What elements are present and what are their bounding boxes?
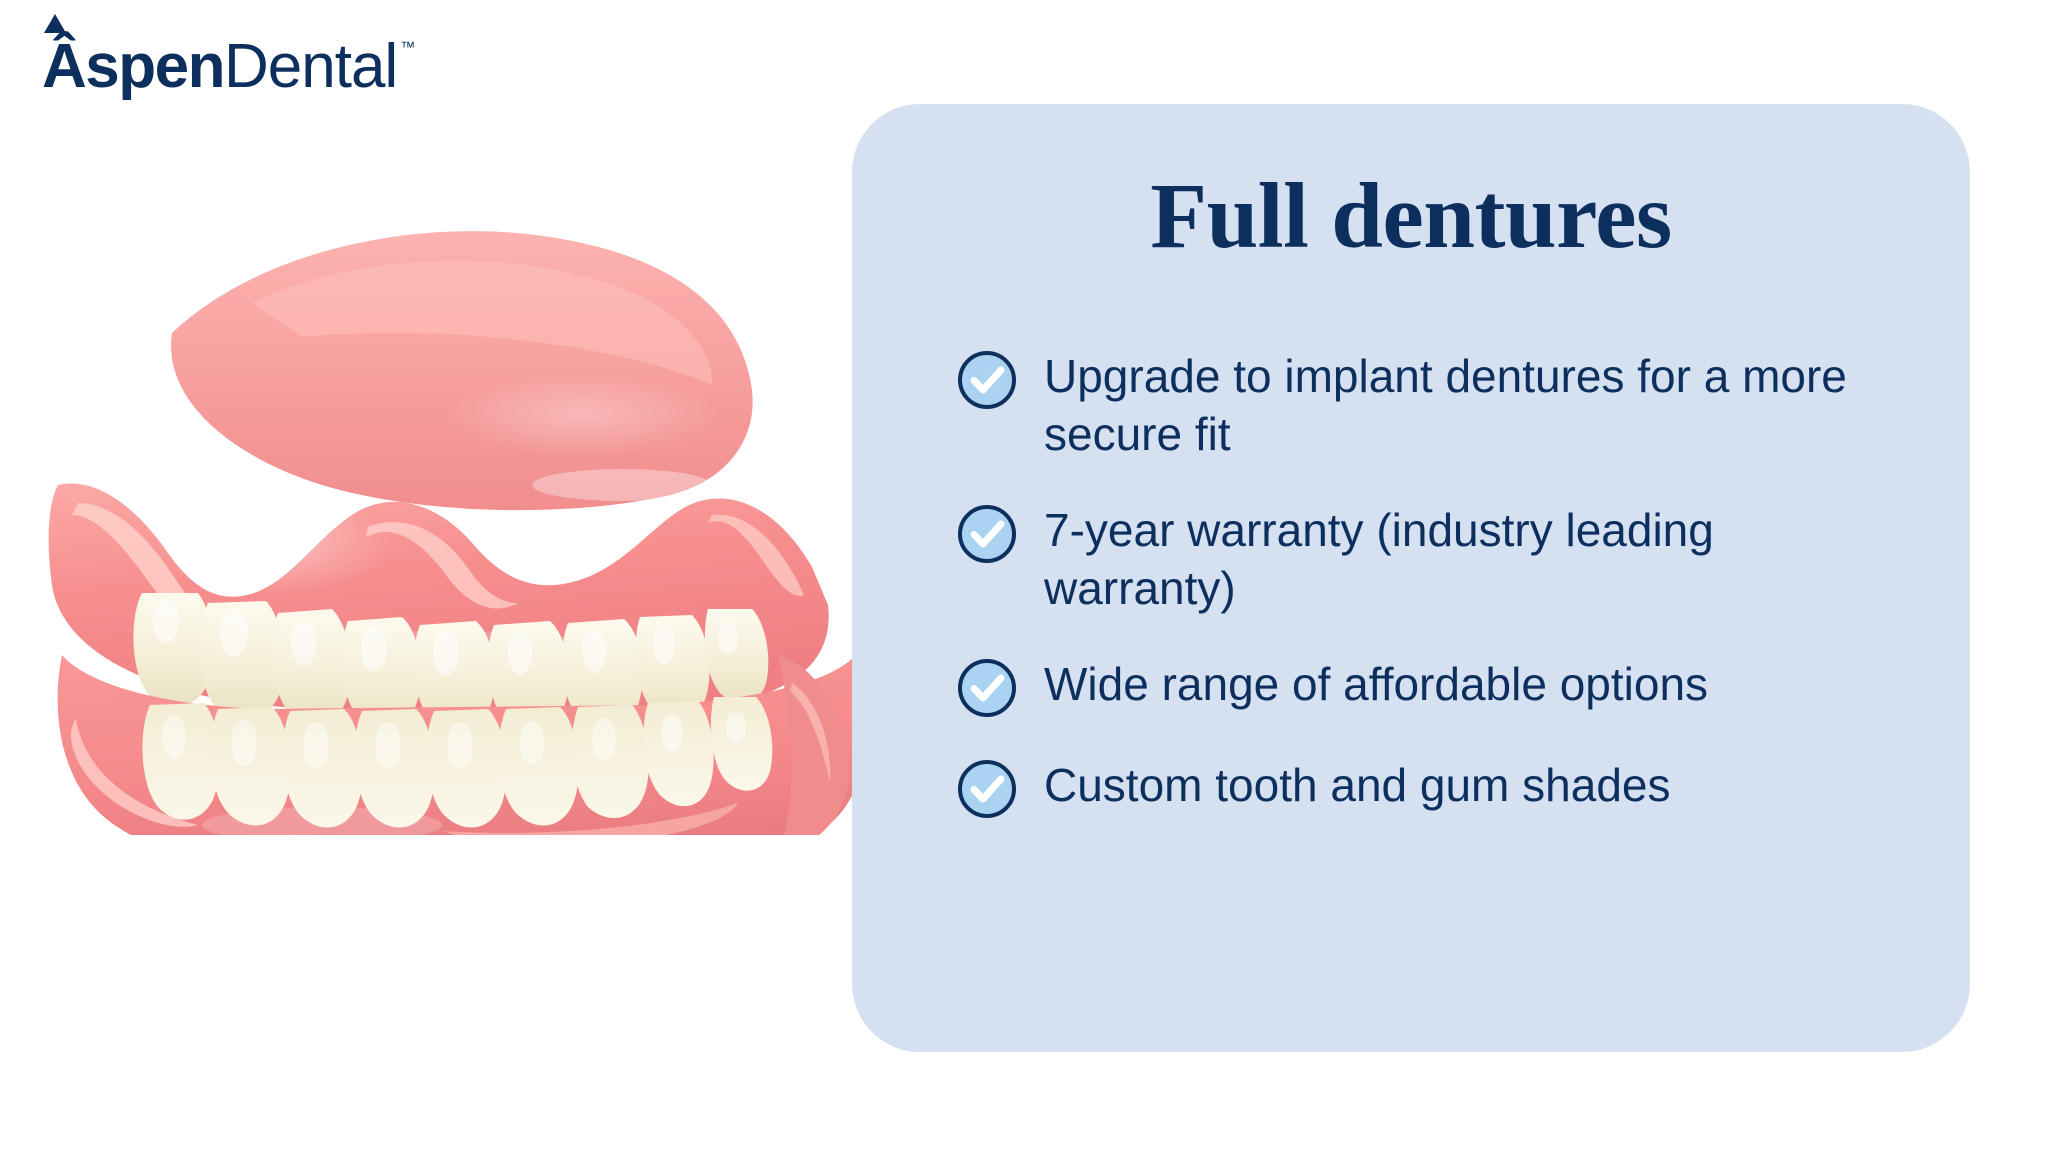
aspen-dental-logo: Âspen Dental ™ xyxy=(42,36,414,98)
logo-wordmark: Âspen Dental ™ xyxy=(42,36,414,98)
list-item: Wide range of affordable options xyxy=(956,656,1912,719)
trademark-symbol: ™ xyxy=(400,40,414,55)
check-circle-icon xyxy=(956,349,1018,411)
check-circle-icon xyxy=(956,758,1018,820)
full-denture-photo xyxy=(22,185,962,835)
logo-text-dental: Dental xyxy=(224,36,397,98)
list-item: Upgrade to implant dentures for a more s… xyxy=(956,348,1912,464)
list-item-label: Upgrade to implant dentures for a more s… xyxy=(1044,348,1874,464)
logo-caret-icon xyxy=(44,14,66,33)
logo-aspen-label: Âspen xyxy=(42,32,224,101)
list-item-label: Custom tooth and gum shades xyxy=(1044,757,1670,815)
promo-graphic: Âspen Dental ™ xyxy=(0,0,2048,1152)
list-item: 7-year warranty (industry leading warran… xyxy=(956,502,1912,618)
check-circle-icon xyxy=(956,503,1018,565)
page-title: Full dentures xyxy=(852,170,1970,263)
list-item-label: 7-year warranty (industry leading warran… xyxy=(1044,502,1874,618)
check-circle-icon xyxy=(956,657,1018,719)
list-item-label: Wide range of affordable options xyxy=(1044,656,1708,714)
list-item: Custom tooth and gum shades xyxy=(956,757,1912,820)
benefits-list: Upgrade to implant dentures for a more s… xyxy=(956,348,1912,820)
info-panel: Full dentures Upgrade to implant denture… xyxy=(852,104,1970,1052)
logo-text-aspen: Âspen xyxy=(42,36,224,98)
